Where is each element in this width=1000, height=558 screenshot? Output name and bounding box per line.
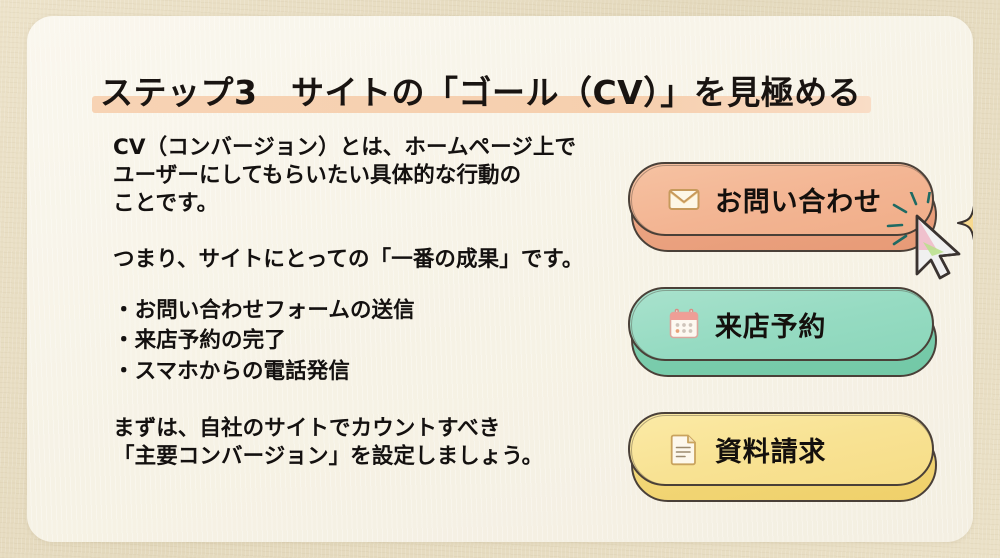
list-item: ・来店予約の完了 — [113, 326, 613, 357]
page-title-text: ステップ3 サイトの「ゴール（CV）」を見極める — [100, 66, 861, 114]
contact-button-label: お問い合わせ — [715, 180, 882, 219]
button-slot-reservation: 来店予約 — [628, 287, 958, 412]
calendar-icon — [666, 306, 702, 342]
paragraph-definition: CV（コンバージョン）とは、ホームページ上で ユーザーにしてもらいたい具体的な行… — [113, 134, 613, 218]
page-title: ステップ3 サイトの「ゴール（CV）」を見極める — [100, 64, 861, 116]
mouse-cursor-icon — [917, 216, 959, 278]
reservation-button-label: 来店予約 — [715, 305, 826, 344]
slide-card: ステップ3 サイトの「ゴール（CV）」を見極める CV（コンバージョン）とは、ホ… — [27, 16, 973, 542]
document-request-button[interactable]: 資料請求 — [628, 412, 934, 486]
document-icon — [666, 431, 702, 467]
paragraph-action: まずは、自社のサイトでカウントすべき 「主要コンバージョン」を設定しましょう。 — [113, 415, 613, 471]
cursor-decoration-group — [882, 192, 973, 297]
button-slot-document: 資料請求 — [628, 412, 958, 537]
list-item: ・お問い合わせフォームの送信 — [113, 296, 613, 327]
document-request-button-label: 資料請求 — [715, 430, 826, 469]
envelope-icon — [666, 181, 702, 217]
bullet-list: ・お問い合わせフォームの送信 ・来店予約の完了 ・スマホからの電話発信 — [113, 296, 613, 388]
list-item: ・スマホからの電話発信 — [113, 357, 613, 388]
sparkle-large-icon — [958, 206, 973, 240]
paragraph-summary: つまり、サイトにとっての「一番の成果」です。 — [113, 246, 613, 274]
reservation-button[interactable]: 来店予約 — [628, 287, 934, 361]
body-text-column: CV（コンバージョン）とは、ホームページ上で ユーザーにしてもらいたい具体的な行… — [113, 134, 613, 471]
